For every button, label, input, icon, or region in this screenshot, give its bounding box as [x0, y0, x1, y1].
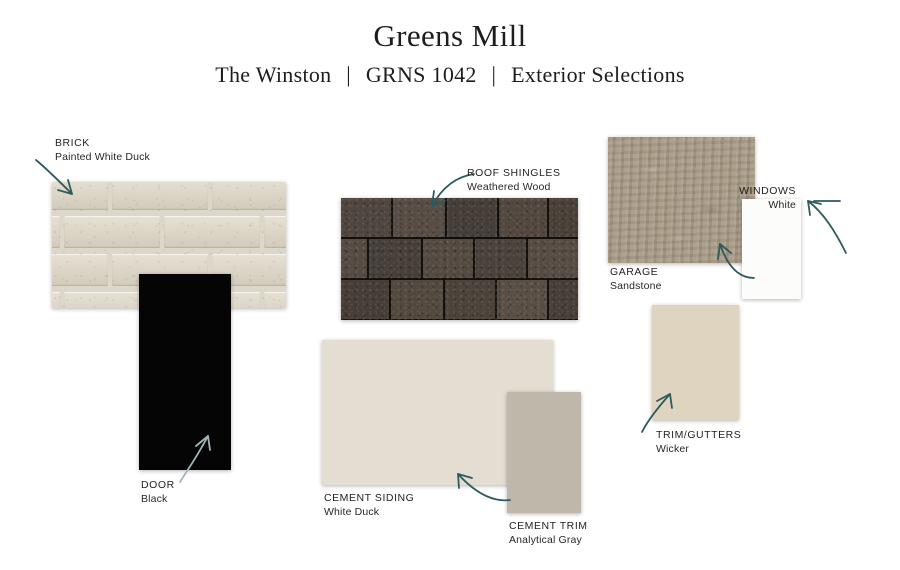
header: Greens Mill The Winston | GRNS 1042 | Ex…: [0, 0, 900, 88]
cement-siding-callout-label: CEMENT SIDING White Duck: [324, 491, 414, 520]
garage-callout-label: GARAGE Sandstone: [610, 265, 662, 294]
door-category: DOOR: [141, 478, 175, 492]
roof-product: Weathered Wood: [467, 180, 561, 194]
cement-trim-callout-label: CEMENT TRIM Analytical Gray: [509, 519, 588, 548]
garage-category: GARAGE: [610, 265, 662, 279]
subtitle-section: Exterior Selections: [511, 62, 685, 87]
exterior-selections-board: Greens Mill The Winston | GRNS 1042 | Ex…: [0, 0, 900, 570]
subtitle-lot-number: GRNS 1042: [366, 62, 477, 87]
roof-category: ROOF SHINGLES: [467, 166, 561, 180]
door-callout-label: DOOR Black: [141, 478, 175, 507]
door-color-swatch: [139, 274, 231, 470]
cement-trim-product: Analytical Gray: [509, 533, 588, 547]
subtitle-separator-2: |: [483, 62, 506, 87]
garage-texture-swatch: [608, 137, 755, 263]
windows-product: White: [739, 198, 796, 212]
window-color-swatch: [742, 199, 801, 299]
cement-siding-category: CEMENT SIDING: [324, 491, 414, 505]
trim-gutters-product: Wicker: [656, 442, 741, 456]
brick-product: Painted White Duck: [55, 150, 150, 164]
cement-siding-product: White Duck: [324, 505, 414, 519]
roof-shingle-swatch: [341, 198, 578, 320]
subtitle-separator-1: |: [337, 62, 360, 87]
roof-callout-label: ROOF SHINGLES Weathered Wood: [467, 166, 561, 195]
subtitle-plan-name: The Winston: [215, 62, 331, 87]
trim-gutters-color-swatch: [652, 305, 739, 420]
windows-callout-label: WINDOWS White: [739, 184, 796, 213]
windows-category: WINDOWS: [739, 184, 796, 198]
garage-product: Sandstone: [610, 279, 662, 293]
trim-gutters-category: TRIM/GUTTERS: [656, 428, 741, 442]
cement-trim-category: CEMENT TRIM: [509, 519, 588, 533]
brick-callout-label: BRICK Painted White Duck: [55, 136, 150, 165]
door-product: Black: [141, 492, 175, 506]
shingle-grain-overlay: [341, 198, 578, 320]
garage-highlight-overlay: [608, 137, 755, 263]
cement-trim-color-swatch: [507, 392, 581, 513]
page-subtitle: The Winston | GRNS 1042 | Exterior Selec…: [0, 62, 900, 88]
trim-gutters-callout-label: TRIM/GUTTERS Wicker: [656, 428, 741, 457]
page-title: Greens Mill: [0, 18, 900, 54]
brick-category: BRICK: [55, 136, 150, 150]
